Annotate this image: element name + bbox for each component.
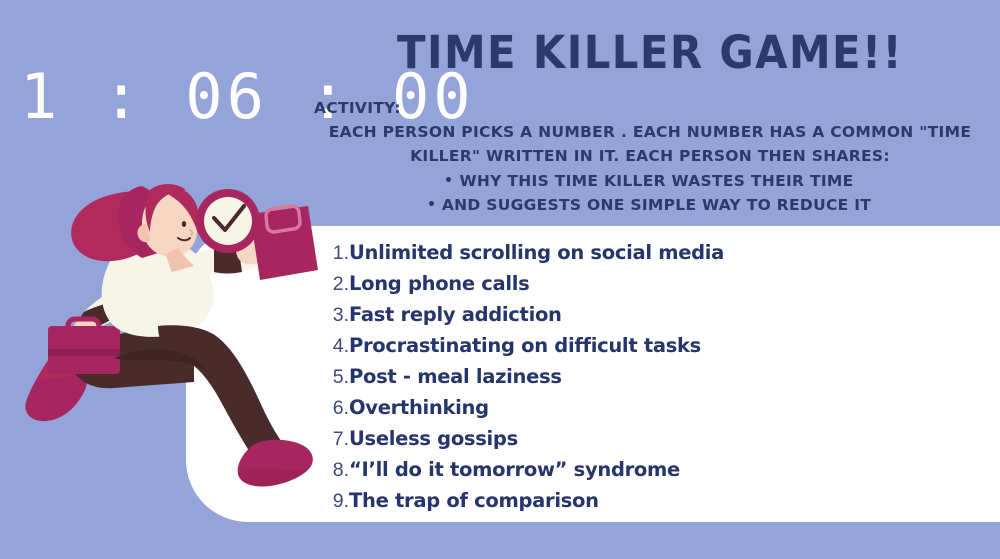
- list-item[interactable]: 9.The trap of comparison: [330, 489, 930, 520]
- running-businesswoman-illustration: [18, 176, 318, 496]
- activity-label: ACTIVITY:: [314, 96, 986, 120]
- activity-block: ACTIVITY: EACH PERSON PICKS A NUMBER . E…: [314, 96, 986, 217]
- list-item-number: 3.: [330, 304, 349, 327]
- list-item-label: Fast reply addiction: [349, 303, 562, 326]
- briefcase-icon: [48, 319, 120, 374]
- list-item-number: 5.: [330, 366, 349, 389]
- front-leg: [158, 325, 282, 458]
- slide-canvas: 1 : 06 : 00 TIME KILLER GAME!! ACTIVITY:…: [0, 0, 1000, 559]
- bullet-dot-icon: [429, 201, 434, 206]
- list-item-label: Post - meal laziness: [349, 365, 562, 388]
- time-killer-list: 1.Unlimited scrolling on social media 2.…: [330, 241, 930, 520]
- activity-bullet-label: WHY THIS TIME KILLER WASTES THEIR TIME: [459, 172, 853, 190]
- list-item[interactable]: 1.Unlimited scrolling on social media: [330, 241, 930, 272]
- list-item-number: 7.: [330, 428, 349, 451]
- clock-icon: [196, 189, 260, 253]
- list-item-label: The trap of comparison: [349, 489, 599, 512]
- list-item-number: 1.: [330, 242, 349, 265]
- list-item-number: 8.: [330, 459, 349, 482]
- activity-bullet-item: AND SUGGESTS ONE SIMPLE WAY TO REDUCE IT: [314, 193, 986, 217]
- list-item-number: 6.: [330, 397, 349, 420]
- activity-bullet-label: AND SUGGESTS ONE SIMPLE WAY TO REDUCE IT: [442, 196, 871, 214]
- list-item-label: Long phone calls: [349, 272, 529, 295]
- list-item-number: 4.: [330, 335, 349, 358]
- clipboard-icon: [250, 206, 318, 280]
- activity-bullet-list: WHY THIS TIME KILLER WASTES THEIR TIME A…: [314, 169, 986, 217]
- page-title: TIME KILLER GAME!!: [343, 30, 957, 75]
- countdown-timer[interactable]: 1 : 06 : 00: [20, 66, 320, 128]
- bullet-dot-icon: [446, 177, 451, 182]
- list-item[interactable]: 6.Overthinking: [330, 396, 930, 427]
- list-item-label: Useless gossips: [349, 427, 518, 450]
- list-item-label: Overthinking: [349, 396, 489, 419]
- list-item-label: Procrastinating on difficult tasks: [349, 334, 701, 357]
- list-item[interactable]: 5.Post - meal laziness: [330, 365, 930, 396]
- list-item[interactable]: 2.Long phone calls: [330, 272, 930, 303]
- list-item[interactable]: 7.Useless gossips: [330, 427, 930, 458]
- activity-description: EACH PERSON PICKS A NUMBER . EACH NUMBER…: [314, 120, 986, 168]
- eye: [182, 221, 186, 227]
- list-item[interactable]: 4.Procrastinating on difficult tasks: [330, 334, 930, 365]
- activity-bullet-item: WHY THIS TIME KILLER WASTES THEIR TIME: [314, 169, 986, 193]
- list-item[interactable]: 8.“I’ll do it tomorrow” syndrome: [330, 458, 930, 489]
- list-item-label: “I’ll do it tomorrow” syndrome: [349, 458, 680, 481]
- list-item-number: 9.: [330, 490, 349, 513]
- list-item[interactable]: 3.Fast reply addiction: [330, 303, 930, 334]
- list-item-label: Unlimited scrolling on social media: [349, 241, 724, 264]
- list-item-number: 2.: [330, 273, 349, 296]
